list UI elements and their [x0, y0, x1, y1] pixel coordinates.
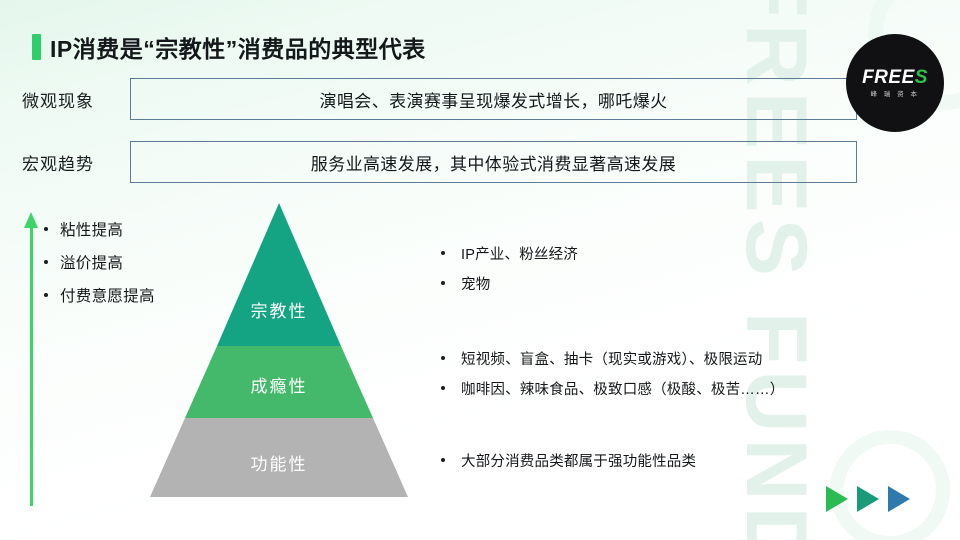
- statement-row-micro: 微观现象 演唱会、表演赛事呈现爆发式增长，哪吒爆火: [0, 78, 857, 120]
- right-bullet-label: 大部分消费品类都属于强功能性品类: [461, 450, 696, 471]
- statement-row-macro-label: 宏观趋势: [0, 150, 130, 175]
- pyramid-tier-top: [217, 203, 341, 346]
- logo-wordmark: FREES: [862, 68, 928, 87]
- statement-row-macro: 宏观趋势 服务业高速发展，其中体验式消费显著高速发展: [0, 141, 857, 183]
- list-item: 付费意愿提高: [44, 284, 155, 306]
- list-item: IP产业、粉丝经济: [441, 243, 578, 264]
- statement-row-micro-value: 演唱会、表演赛事呈现爆发式增长，哪吒爆火: [320, 87, 668, 112]
- play-triangle-icon: [857, 486, 879, 512]
- bullet-dot-icon: [44, 293, 48, 297]
- upward-arrow-icon: [24, 212, 40, 506]
- play-triangle-icon: [888, 486, 910, 512]
- left-bullet-label: 付费意愿提高: [60, 284, 155, 306]
- bullet-dot-icon: [441, 386, 445, 390]
- bullet-dot-icon: [441, 281, 445, 285]
- list-item: 短视频、盲盒、抽卡（现实或游戏）、极限运动: [441, 348, 784, 369]
- frees-logo: FREES 峰 瑞 资 本: [846, 34, 944, 132]
- statement-row-micro-box: 演唱会、表演赛事呈现爆发式增长，哪吒爆火: [130, 78, 857, 120]
- pyramid-tier-bottom: [150, 418, 408, 497]
- logo-wordmark-prefix: FREE: [862, 67, 915, 88]
- right-bullet-label: 宠物: [461, 273, 490, 294]
- right-bullets-addictive: 短视频、盲盒、抽卡（现实或游戏）、极限运动 咖啡因、辣味食品、极致口感（极酸、极…: [441, 348, 784, 408]
- right-bullet-label: 咖啡因、辣味食品、极致口感（极酸、极苦……）: [461, 378, 784, 399]
- right-bullets-functional: 大部分消费品类都属于强功能性品类: [441, 450, 696, 480]
- page-title: IP消费是“宗教性”消费品的典型代表: [32, 30, 426, 64]
- left-bullet-label: 粘性提高: [60, 218, 123, 240]
- pyramid-svg: [148, 200, 410, 500]
- arrow-shaft: [30, 226, 33, 506]
- bullet-dot-icon: [44, 227, 48, 231]
- bullet-dot-icon: [441, 458, 445, 462]
- pyramid-tier-middle: [185, 346, 373, 418]
- triangle-decoration: [826, 486, 910, 512]
- play-triangle-icon: [826, 486, 848, 512]
- list-item: 大部分消费品类都属于强功能性品类: [441, 450, 696, 471]
- bullet-dot-icon: [44, 260, 48, 264]
- slide-canvas: FREES FUND FREES 峰 瑞 资 本 IP消费是“宗教性”消费品的典…: [0, 0, 960, 540]
- right-bullet-label: IP产业、粉丝经济: [461, 243, 578, 264]
- logo-wordmark-accent: S: [915, 67, 928, 88]
- bullet-dot-icon: [441, 356, 445, 360]
- statement-row-macro-box: 服务业高速发展，其中体验式消费显著高速发展: [130, 141, 857, 183]
- bullet-dot-icon: [441, 251, 445, 255]
- list-item: 粘性提高: [44, 218, 155, 240]
- pyramid-diagram: 宗教性 成瘾性 功能性: [148, 200, 410, 500]
- watermark-circle-bottom: [830, 430, 950, 540]
- right-bullet-label: 短视频、盲盒、抽卡（现实或游戏）、极限运动: [461, 348, 762, 369]
- statement-row-micro-label: 微观现象: [0, 87, 130, 112]
- list-item: 溢价提高: [44, 251, 155, 273]
- list-item: 宠物: [441, 273, 578, 294]
- left-bullet-label: 溢价提高: [60, 251, 123, 273]
- statement-row-macro-value: 服务业高速发展，其中体验式消费显著高速发展: [311, 150, 676, 175]
- title-label: IP消费是“宗教性”消费品的典型代表: [50, 30, 426, 64]
- list-item: 咖啡因、辣味食品、极致口感（极酸、极苦……）: [441, 378, 784, 399]
- right-bullets-religious: IP产业、粉丝经济 宠物: [441, 243, 578, 303]
- logo-subtext: 峰 瑞 资 本: [871, 92, 920, 99]
- title-accent-bar: [32, 34, 41, 60]
- left-bullet-list: 粘性提高 溢价提高 付费意愿提高: [44, 218, 155, 317]
